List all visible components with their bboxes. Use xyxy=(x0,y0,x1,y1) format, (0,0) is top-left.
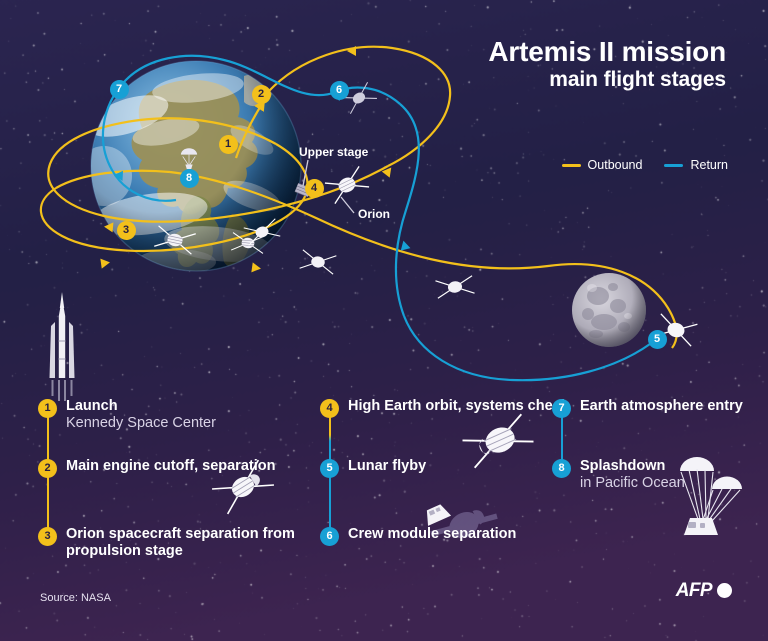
map-marker-1: 1 xyxy=(219,135,238,154)
key-item-detail-8: in Pacific Ocean xyxy=(580,475,768,492)
key-connector-rail xyxy=(329,468,331,536)
key-badge-2: 2 xyxy=(38,459,57,478)
key-item-detail-1: Kennedy Space Center xyxy=(66,415,346,432)
stage-key: 1LaunchKennedy Space Center2Main engine … xyxy=(0,398,768,578)
callout-label-orion: Orion xyxy=(358,207,390,221)
legend-item-outbound: Outbound xyxy=(562,158,643,172)
afp-dot-icon xyxy=(717,583,732,598)
key-badge-6: 6 xyxy=(320,527,339,546)
key-badge-3: 3 xyxy=(38,527,57,546)
callout-label-upper-stage: Upper stage xyxy=(299,145,368,159)
key-connector-rail xyxy=(47,468,49,536)
page-title: Artemis II mission xyxy=(488,38,726,67)
key-badge-7: 7 xyxy=(552,399,571,418)
legend-label-outbound: Outbound xyxy=(588,158,643,172)
key-item-title-8: Splashdown xyxy=(580,458,768,475)
key-item-title-7: Earth atmosphere entry xyxy=(580,398,768,415)
key-item-title-6: Crew module separation xyxy=(348,526,578,543)
key-item-8: 8Splashdownin Pacific Ocean xyxy=(552,458,768,492)
key-badge-4: 4 xyxy=(320,399,339,418)
title-block: Artemis II mission main flight stages xyxy=(488,38,726,91)
legend-label-return: Return xyxy=(690,158,728,172)
orion-spacecraft-map xyxy=(325,166,369,203)
infographic-root: Artemis II mission main flight stages Ou… xyxy=(0,0,768,641)
key-item-7: 7Earth atmosphere entry xyxy=(552,398,768,415)
sls-rocket-illustration xyxy=(50,292,75,401)
map-marker-6: 6 xyxy=(330,81,349,100)
key-item-title-4: High Earth orbit, systems check xyxy=(348,398,578,415)
afp-logo: AFP xyxy=(676,581,732,600)
key-item-5: 5Lunar flyby xyxy=(320,458,578,475)
key-item-title-3: Orion spacecraft separation from propuls… xyxy=(66,526,346,560)
line-swatch-icon-return xyxy=(664,164,683,167)
key-item-title-2: Main engine cutoff, separation xyxy=(66,458,346,475)
line-swatch-icon-outbound xyxy=(562,164,581,167)
key-item-title-1: Launch xyxy=(66,398,346,415)
key-badge-8: 8 xyxy=(552,459,571,478)
key-item-1: 1LaunchKennedy Space Center xyxy=(38,398,346,432)
source-note: Source: NASA xyxy=(40,592,111,604)
map-marker-2: 2 xyxy=(252,85,271,104)
afp-wordmark: AFP xyxy=(676,581,712,600)
key-badge-5: 5 xyxy=(320,459,339,478)
key-item-4: 4High Earth orbit, systems check xyxy=(320,398,578,415)
map-marker-3: 3 xyxy=(117,221,136,240)
key-item-2: 2Main engine cutoff, separation xyxy=(38,458,346,475)
map-marker-8: 8 xyxy=(180,169,199,188)
moon-body xyxy=(572,273,646,347)
key-item-6: 6Crew module separation xyxy=(320,526,578,543)
key-item-3: 3Orion spacecraft separation from propul… xyxy=(38,526,346,560)
page-subtitle: main flight stages xyxy=(488,68,726,92)
trajectory-legend: Outbound Return xyxy=(562,158,728,172)
key-item-title-5: Lunar flyby xyxy=(348,458,578,475)
map-marker-5: 5 xyxy=(648,330,667,349)
legend-item-return: Return xyxy=(664,158,728,172)
map-marker-7: 7 xyxy=(110,80,129,99)
map-marker-4: 4 xyxy=(305,179,324,198)
key-badge-1: 1 xyxy=(38,399,57,418)
